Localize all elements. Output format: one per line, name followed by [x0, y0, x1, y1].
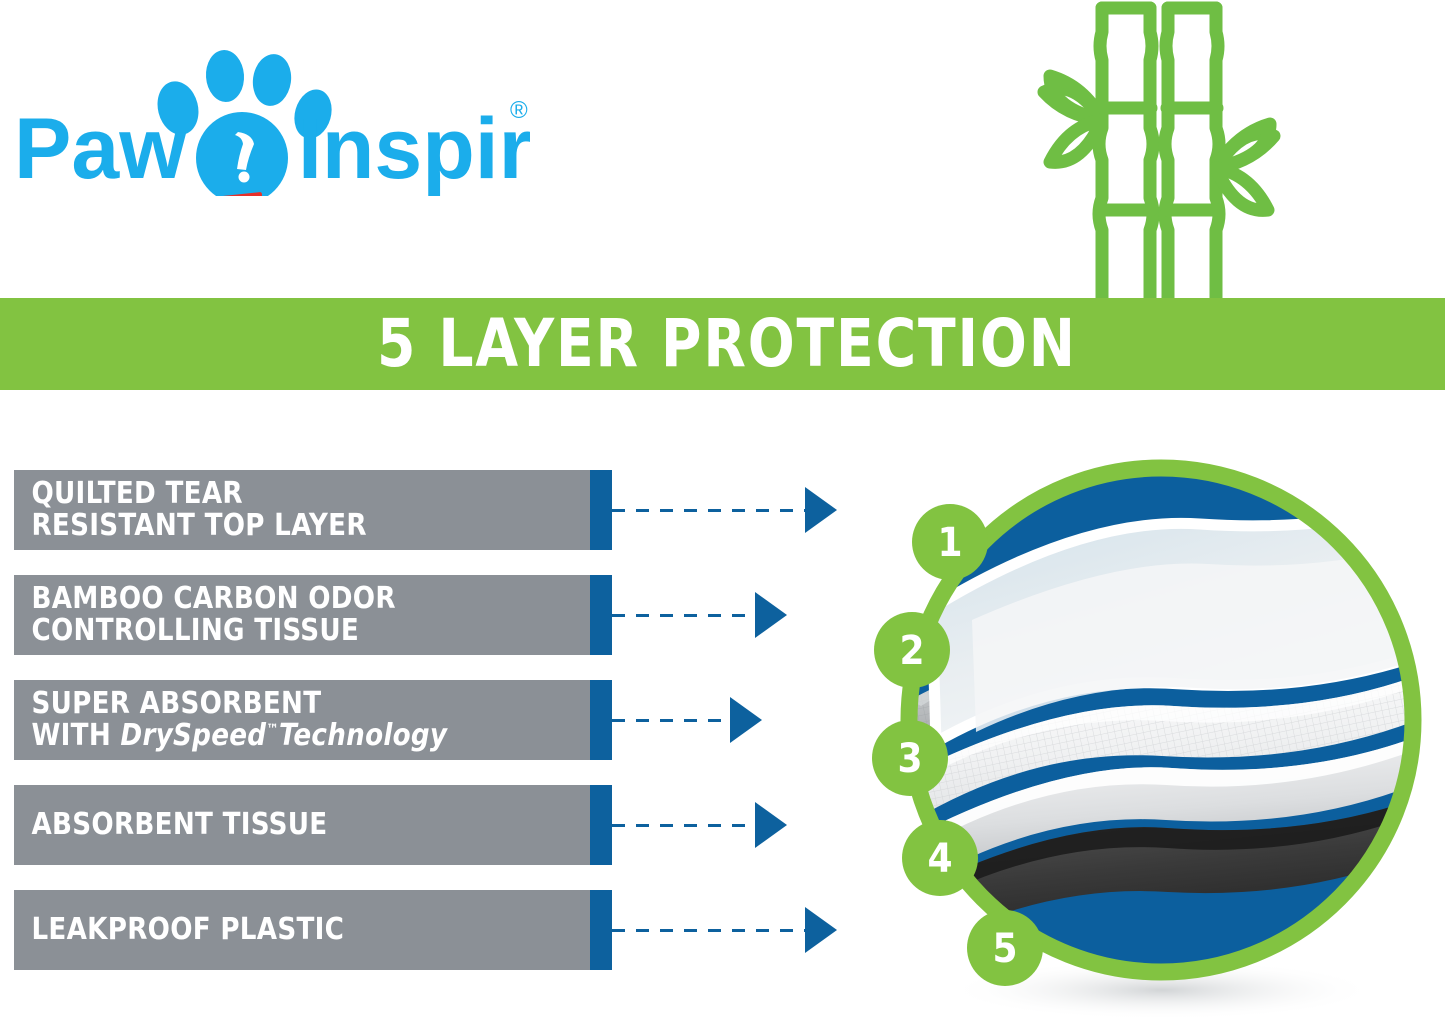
layer-label-text-5: LEAKPROOF PLASTIC: [14, 914, 344, 946]
layer-label-list: QUILTED TEAR RESISTANT TOP LAYER BAMBOO …: [0, 400, 880, 1000]
layer-label-text-1: QUILTED TEAR RESISTANT TOP LAYER: [14, 478, 367, 543]
layer-badge-number-2: 2: [899, 628, 924, 674]
bamboo-decoration: [1002, 0, 1332, 300]
layer-label-line1-2: BAMBOO CARBON ODOR: [31, 581, 395, 616]
layer-label-line2-2: CONTROLLING TISSUE: [31, 613, 359, 648]
logo-text-paw: Paw: [14, 101, 187, 196]
banner: 5 LAYER PROTECTION: [0, 298, 1445, 390]
dashed-line-3: [612, 719, 730, 722]
layer-stack-diagram: 1 2 3 4 5: [862, 420, 1445, 1035]
layer-label-line1-3: SUPER ABSORBENT: [31, 686, 321, 721]
layer-label-line1-1: QUILTED TEAR: [31, 476, 242, 511]
header: Paw Inspired ®: [0, 0, 1445, 298]
technology-text: Technology: [279, 718, 447, 753]
trademark-mark: ™: [266, 722, 279, 738]
logo-text-inspired: Inspired: [298, 101, 530, 196]
layer-badge-number-3: 3: [897, 736, 922, 782]
arrow-head-1: [805, 487, 837, 533]
layer-label-line1-4: ABSORBENT TISSUE: [31, 807, 327, 842]
layer-label-bar-5[interactable]: LEAKPROOF PLASTIC: [14, 890, 590, 970]
page-title: 5 LAYER PROTECTION: [368, 311, 1077, 377]
layer-row-3[interactable]: SUPER ABSORBENT WITH DrySpeed™Technology: [0, 680, 880, 760]
layer-badge-number-4: 4: [927, 836, 952, 882]
layer-row-2[interactable]: BAMBOO CARBON ODOR CONTROLLING TISSUE: [0, 575, 880, 655]
arrow-head-3: [730, 697, 762, 743]
layer-label-text-2: BAMBOO CARBON ODOR CONTROLLING TISSUE: [14, 583, 396, 648]
arrow-head-2: [755, 592, 787, 638]
dryspeed-brand-text: DrySpeed: [120, 718, 266, 753]
bamboo-stalks-icon: [1002, 0, 1332, 300]
layer-bar-cap-5: [590, 890, 612, 970]
layer-label-text-3: SUPER ABSORBENT WITH DrySpeed™Technology: [14, 688, 447, 753]
layer-label-line2-prefix-3: WITH: [31, 718, 120, 753]
layer-label-bar-3[interactable]: SUPER ABSORBENT WITH DrySpeed™Technology: [14, 680, 590, 760]
layer-row-1[interactable]: QUILTED TEAR RESISTANT TOP LAYER: [0, 470, 880, 550]
dashed-line-4: [612, 824, 755, 827]
layer-badge-number-1: 1: [937, 520, 962, 566]
layer-bar-cap-3: [590, 680, 612, 760]
layer-bar-cap-2: [590, 575, 612, 655]
registered-trademark-mark: ®: [510, 97, 528, 124]
arrow-head-4: [755, 802, 787, 848]
layer-badge-number-5: 5: [992, 926, 1017, 972]
layer-label-text-4: ABSORBENT TISSUE: [14, 809, 327, 841]
layer-label-line2-1: RESISTANT TOP LAYER: [31, 508, 366, 543]
dashed-line-2: [612, 614, 755, 617]
layer-label-bar-2[interactable]: BAMBOO CARBON ODOR CONTROLLING TISSUE: [14, 575, 590, 655]
arrow-head-5: [805, 907, 837, 953]
layer-row-4[interactable]: ABSORBENT TISSUE: [0, 785, 880, 865]
brand-logo: Paw Inspired ®: [10, 36, 530, 196]
layer-label-bar-4[interactable]: ABSORBENT TISSUE: [14, 785, 590, 865]
dashed-line-5: [612, 929, 805, 932]
dashed-line-1: [612, 509, 805, 512]
paw-lightbulb-icon: Paw Inspired ®: [10, 36, 530, 196]
layer-label-line1-5: LEAKPROOF PLASTIC: [31, 912, 344, 947]
layer-label-bar-1[interactable]: QUILTED TEAR RESISTANT TOP LAYER: [14, 470, 590, 550]
layer-bar-cap-1: [590, 470, 612, 550]
layer-stack-illustration: 1 2 3 4 5: [862, 420, 1445, 1035]
layer-bar-cap-4: [590, 785, 612, 865]
layer-row-5[interactable]: LEAKPROOF PLASTIC: [0, 890, 880, 970]
